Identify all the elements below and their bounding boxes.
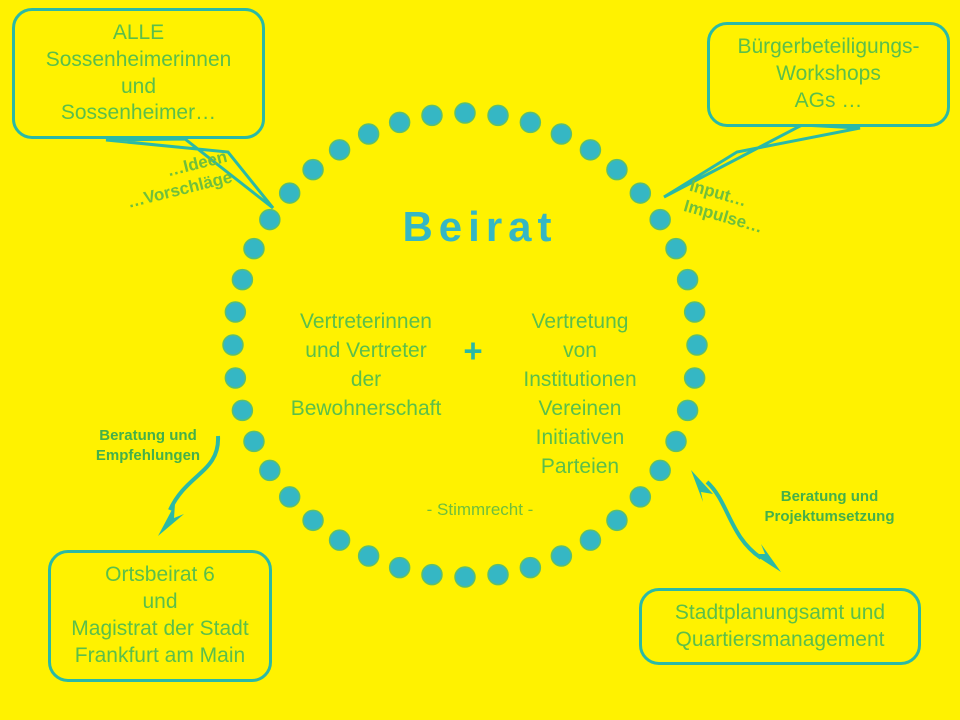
box-stadtplanung-text: Stadtplanungsamt undQuartiersmanagement bbox=[642, 600, 918, 654]
ring-dot bbox=[580, 140, 600, 160]
ring-dot bbox=[455, 567, 475, 587]
bubble-workshops-text: Bürgerbeteiligungs-WorkshopsAGs … bbox=[710, 34, 947, 115]
ring-dot bbox=[330, 140, 350, 160]
box-ortsbeirat-text: Ortsbeirat 6undMagistrat der StadtFrankf… bbox=[51, 562, 269, 670]
plus-icon: + bbox=[451, 308, 495, 367]
ring-dot bbox=[488, 105, 508, 125]
label-beratung-empfehlungen: Beratung undEmpfehlungen bbox=[68, 426, 228, 465]
ring-dot bbox=[455, 103, 475, 123]
column-vertretung-institutionen: VertretungvonInstitutionenVereinenInitia… bbox=[495, 308, 665, 482]
ring-dot bbox=[488, 565, 508, 585]
ring-dot bbox=[390, 558, 410, 578]
ring-dot bbox=[390, 112, 410, 132]
ring-dot bbox=[223, 335, 243, 355]
box-ortsbeirat-magistrat[interactable]: Ortsbeirat 6undMagistrat der StadtFrankf… bbox=[48, 550, 272, 682]
column-vertreterinnen-bewohnerschaft: Vertreterinnenund VertreterderBewohnersc… bbox=[281, 308, 451, 424]
ring-dot bbox=[232, 270, 252, 290]
ring-dot bbox=[303, 160, 323, 180]
ring-dot bbox=[330, 530, 350, 550]
ring-dot bbox=[359, 124, 379, 144]
box-stadtplanungsamt-quartiersmanagement[interactable]: Stadtplanungsamt undQuartiersmanagement bbox=[639, 588, 921, 665]
ring-dot bbox=[520, 558, 540, 578]
footnote-stimmrecht: - Stimmrecht - bbox=[0, 500, 960, 520]
ring-dot bbox=[225, 368, 245, 388]
bubble-buergerbeteiligungs-workshops[interactable]: Bürgerbeteiligungs-WorkshopsAGs … bbox=[707, 22, 950, 127]
ring-dot bbox=[687, 335, 707, 355]
ring-dot bbox=[551, 546, 571, 566]
ring-dot bbox=[232, 400, 252, 420]
ring-dot bbox=[551, 124, 571, 144]
ring-dot bbox=[580, 530, 600, 550]
ring-dot bbox=[678, 270, 698, 290]
beirat-composition: Vertreterinnenund VertreterderBewohnersc… bbox=[258, 308, 688, 482]
bubble-alle-sossenheimer[interactable]: ALLESossenheimerinnenundSossenheimer… bbox=[12, 8, 265, 139]
bubble-alle-text: ALLESossenheimerinnenundSossenheimer… bbox=[15, 20, 262, 128]
diagram-canvas: ALLESossenheimerinnenundSossenheimer… Bü… bbox=[0, 0, 960, 720]
ring-dot bbox=[422, 565, 442, 585]
ring-dot bbox=[422, 105, 442, 125]
ring-dot bbox=[359, 546, 379, 566]
diagram-title-beirat: Beirat bbox=[0, 203, 960, 251]
ring-dot bbox=[630, 183, 650, 203]
ring-dot bbox=[225, 302, 245, 322]
ring-dot bbox=[607, 160, 627, 180]
ring-dot bbox=[520, 112, 540, 132]
